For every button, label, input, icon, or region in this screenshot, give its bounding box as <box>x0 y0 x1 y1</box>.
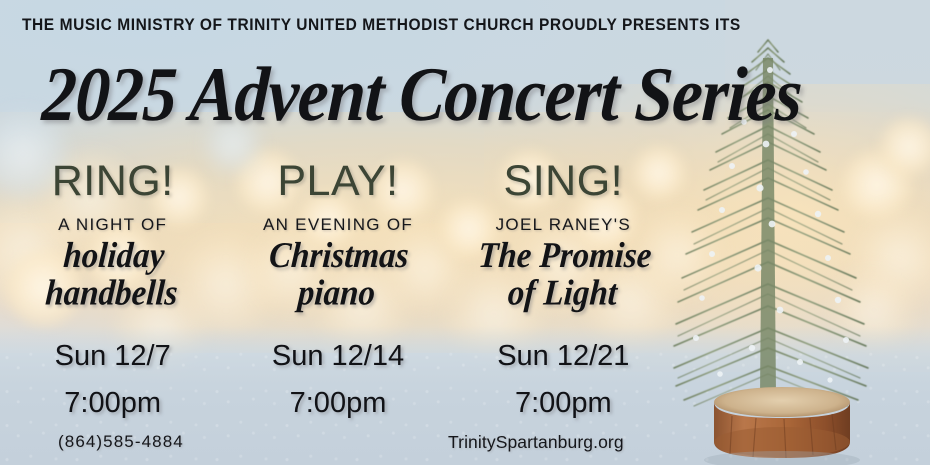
concert-script-line1: holiday <box>62 236 165 276</box>
concert-column-play: PLAY! AN EVENING OF Christmas piano Sun … <box>225 160 450 405</box>
concert-script-line2: piano <box>223 276 451 313</box>
concert-script-line2: of Light <box>448 276 676 313</box>
concert-date: Sun 12/7 <box>0 342 225 371</box>
tagline: THE MUSIC MINISTRY OF TRINITY UNITED MET… <box>22 16 741 35</box>
concert-headline: SING! <box>451 160 676 203</box>
contact-phone[interactable]: (864)585-4884 <box>58 432 184 452</box>
concert-script-title: holiday handbells <box>0 239 228 313</box>
concert-date: Sun 12/14 <box>225 342 450 371</box>
concert-datetime: Sun 12/14 7:00pm <box>225 342 450 418</box>
concert-time: 7:00pm <box>225 389 450 418</box>
concert-script-title: Christmas piano <box>223 239 453 313</box>
page-title: 2025 Advent Concert Series <box>40 56 803 133</box>
concert-script-line2: handbells <box>0 276 225 313</box>
concert-subtitle: AN EVENING OF <box>225 216 450 233</box>
concert-date: Sun 12/21 <box>451 342 676 371</box>
concert-headline: RING! <box>0 160 225 203</box>
concert-time: 7:00pm <box>451 389 676 418</box>
advent-concert-poster: THE MUSIC MINISTRY OF TRINITY UNITED MET… <box>0 0 930 465</box>
concert-subtitle: JOEL RANEY'S <box>451 216 676 233</box>
concert-script-title: The Promise of Light <box>448 239 678 313</box>
concert-subtitle: A NIGHT OF <box>0 216 225 233</box>
concert-column-sing: SING! JOEL RANEY'S The Promise of Light … <box>451 160 676 405</box>
concert-column-ring: RING! A NIGHT OF holiday handbells Sun 1… <box>0 160 225 405</box>
concert-datetime: Sun 12/21 7:00pm <box>451 342 676 418</box>
concert-script-line1: Christmas <box>268 236 410 276</box>
website-url[interactable]: TrinitySpartanburg.org <box>448 432 624 453</box>
concert-columns: RING! A NIGHT OF holiday handbells Sun 1… <box>0 160 676 405</box>
concert-datetime: Sun 12/7 7:00pm <box>0 342 225 418</box>
concert-time: 7:00pm <box>0 389 225 418</box>
concert-headline: PLAY! <box>225 160 450 203</box>
concert-script-line1: The Promise <box>477 236 653 276</box>
